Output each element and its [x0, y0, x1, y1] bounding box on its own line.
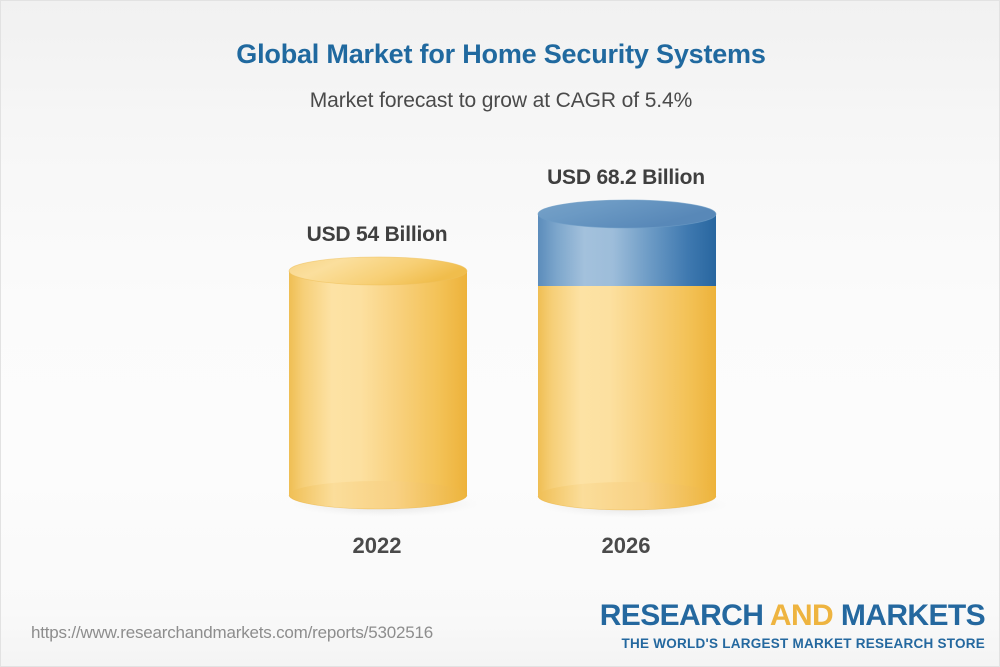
brand-wordmark: RESEARCH AND MARKETS	[600, 601, 985, 631]
chart-canvas: Global Market for Home Security Systems …	[0, 0, 1000, 667]
brand-word-research: RESEARCH	[600, 599, 764, 632]
cylinder-2026	[538, 200, 716, 518]
source-url[interactable]: https://www.researchandmarkets.com/repor…	[31, 623, 433, 643]
bar-value-label-2022: USD 54 Billion	[227, 223, 527, 247]
brand-logo[interactable]: RESEARCH AND MARKETS THE WORLD'S LARGEST…	[600, 601, 985, 651]
bar-value-label-2026: USD 68.2 Billion	[476, 166, 776, 190]
brand-word-markets: MARKETS	[841, 599, 985, 632]
plot-area: USD 54 Billion	[1, 1, 1000, 601]
bar-category-label-2026: 2026	[476, 533, 776, 559]
cylinder-2022	[289, 257, 467, 517]
brand-word-and: AND	[770, 599, 833, 632]
brand-tagline: THE WORLD'S LARGEST MARKET RESEARCH STOR…	[600, 636, 985, 651]
